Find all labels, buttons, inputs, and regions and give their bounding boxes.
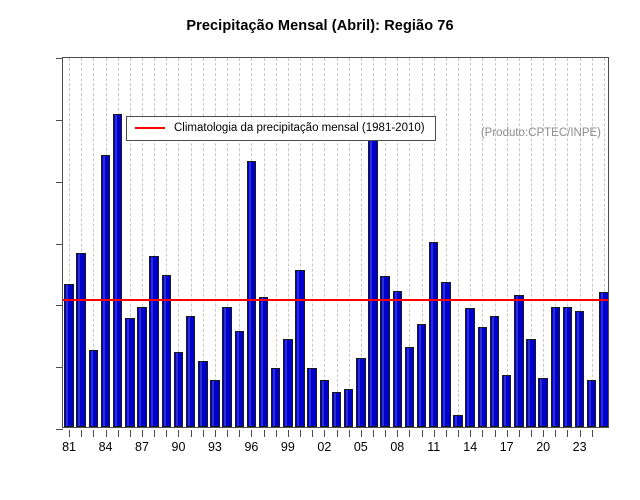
plot-inner xyxy=(63,58,608,427)
x-tick xyxy=(191,430,192,437)
climatology-line xyxy=(63,299,608,301)
y-tick xyxy=(56,305,63,306)
x-tick-label: 99 xyxy=(281,440,295,454)
x-tick xyxy=(227,430,228,437)
bar xyxy=(149,256,158,427)
bar xyxy=(502,375,511,427)
x-tick xyxy=(373,430,374,437)
bar xyxy=(113,114,122,427)
bar xyxy=(137,307,146,427)
x-tick xyxy=(495,430,496,437)
x-tick xyxy=(215,430,216,437)
x-tick xyxy=(397,430,398,437)
y-tick xyxy=(56,120,63,121)
x-tick xyxy=(543,430,544,437)
x-tick-label: 90 xyxy=(172,440,186,454)
bar xyxy=(259,297,268,427)
x-tick xyxy=(81,430,82,437)
y-tick xyxy=(56,58,63,59)
grid-line xyxy=(337,58,339,427)
x-tick xyxy=(507,430,508,437)
product-credit: (Produto:CPTEC/INPE) xyxy=(481,127,601,139)
x-tick xyxy=(567,430,568,437)
bar xyxy=(417,324,426,427)
bar xyxy=(101,155,110,427)
x-tick xyxy=(409,430,410,437)
bar xyxy=(356,358,365,427)
legend-line-swatch xyxy=(135,127,165,129)
grid-line xyxy=(324,58,326,427)
bar xyxy=(235,331,244,427)
grid-line xyxy=(215,58,217,427)
x-tick xyxy=(361,430,362,437)
x-tick xyxy=(251,430,252,437)
x-tick xyxy=(154,430,155,437)
x-tick-label: 84 xyxy=(99,440,113,454)
x-tick xyxy=(276,430,277,437)
x-tick xyxy=(178,430,179,437)
bar xyxy=(405,347,414,427)
x-tick xyxy=(592,430,593,437)
grid-line xyxy=(349,58,351,427)
bar xyxy=(575,311,584,427)
y-tick xyxy=(56,244,63,245)
chart-title: Precipitação Mensal (Abril): Região 76 xyxy=(0,18,640,34)
bar xyxy=(210,380,219,427)
chart-page: Precipitação Mensal (Abril): Região 76 P… xyxy=(0,0,640,500)
bar xyxy=(76,253,85,427)
grid-line xyxy=(507,58,509,427)
bar xyxy=(247,161,256,427)
x-tick-label: 20 xyxy=(536,440,550,454)
x-tick xyxy=(482,430,483,437)
grid-line xyxy=(543,58,545,427)
x-tick xyxy=(106,430,107,437)
x-tick xyxy=(324,430,325,437)
bar xyxy=(393,291,402,427)
x-tick xyxy=(580,430,581,437)
x-tick-label: 05 xyxy=(354,440,368,454)
x-tick xyxy=(349,430,350,437)
x-tick-label: 96 xyxy=(244,440,258,454)
x-tick xyxy=(118,430,119,437)
bar xyxy=(271,368,280,427)
x-tick xyxy=(239,430,240,437)
bar xyxy=(429,242,438,428)
x-tick xyxy=(130,430,131,437)
x-tick xyxy=(69,430,70,437)
bar xyxy=(368,133,377,427)
bar xyxy=(320,380,329,427)
y-tick xyxy=(56,367,63,368)
x-tick xyxy=(264,430,265,437)
bar xyxy=(514,295,523,427)
x-tick-label: 08 xyxy=(390,440,404,454)
x-tick xyxy=(555,430,556,437)
x-tick xyxy=(203,430,204,437)
x-tick xyxy=(531,430,532,437)
bar xyxy=(222,307,231,427)
x-tick-label: 02 xyxy=(317,440,331,454)
bar xyxy=(526,339,535,427)
bar xyxy=(587,380,596,427)
legend-box: Climatologia da precipitação mensal (198… xyxy=(126,116,436,141)
x-tick xyxy=(434,430,435,437)
x-tick xyxy=(458,430,459,437)
bar xyxy=(125,318,134,427)
bar xyxy=(538,378,547,427)
bar xyxy=(344,389,353,427)
legend-label: Climatologia da precipitação mensal (198… xyxy=(174,122,425,134)
bar xyxy=(490,316,499,427)
bar xyxy=(64,284,73,427)
x-tick-label: 93 xyxy=(208,440,222,454)
x-tick-label: 81 xyxy=(62,440,76,454)
plot-area: 050100150200250300 818487909396990205081… xyxy=(62,57,609,428)
x-tick xyxy=(300,430,301,437)
x-tick xyxy=(93,430,94,437)
bar xyxy=(599,292,608,427)
x-tick xyxy=(519,430,520,437)
x-tick-label: 87 xyxy=(135,440,149,454)
bar xyxy=(465,308,474,427)
bar xyxy=(198,361,207,427)
bar xyxy=(307,368,316,427)
x-tick-label: 17 xyxy=(500,440,514,454)
x-tick xyxy=(470,430,471,437)
bar xyxy=(89,350,98,427)
x-tick xyxy=(142,430,143,437)
bar xyxy=(453,415,462,427)
x-tick xyxy=(385,430,386,437)
bar xyxy=(283,339,292,427)
x-tick-label: 11 xyxy=(427,440,440,454)
bar xyxy=(162,275,171,427)
x-tick-label: 23 xyxy=(573,440,587,454)
bar xyxy=(332,392,341,427)
x-tick-label: 14 xyxy=(463,440,477,454)
bar xyxy=(441,282,450,427)
bar xyxy=(186,316,195,427)
x-tick xyxy=(166,430,167,437)
x-tick xyxy=(288,430,289,437)
x-tick xyxy=(446,430,447,437)
y-tick xyxy=(56,182,63,183)
x-tick xyxy=(337,430,338,437)
bar xyxy=(563,307,572,427)
x-tick xyxy=(422,430,423,437)
y-tick xyxy=(56,429,63,430)
bar xyxy=(295,270,304,427)
x-tick xyxy=(312,430,313,437)
bar xyxy=(551,307,560,427)
grid-line xyxy=(458,58,460,427)
bar xyxy=(174,352,183,427)
grid-line xyxy=(592,58,594,427)
bar xyxy=(478,327,487,427)
